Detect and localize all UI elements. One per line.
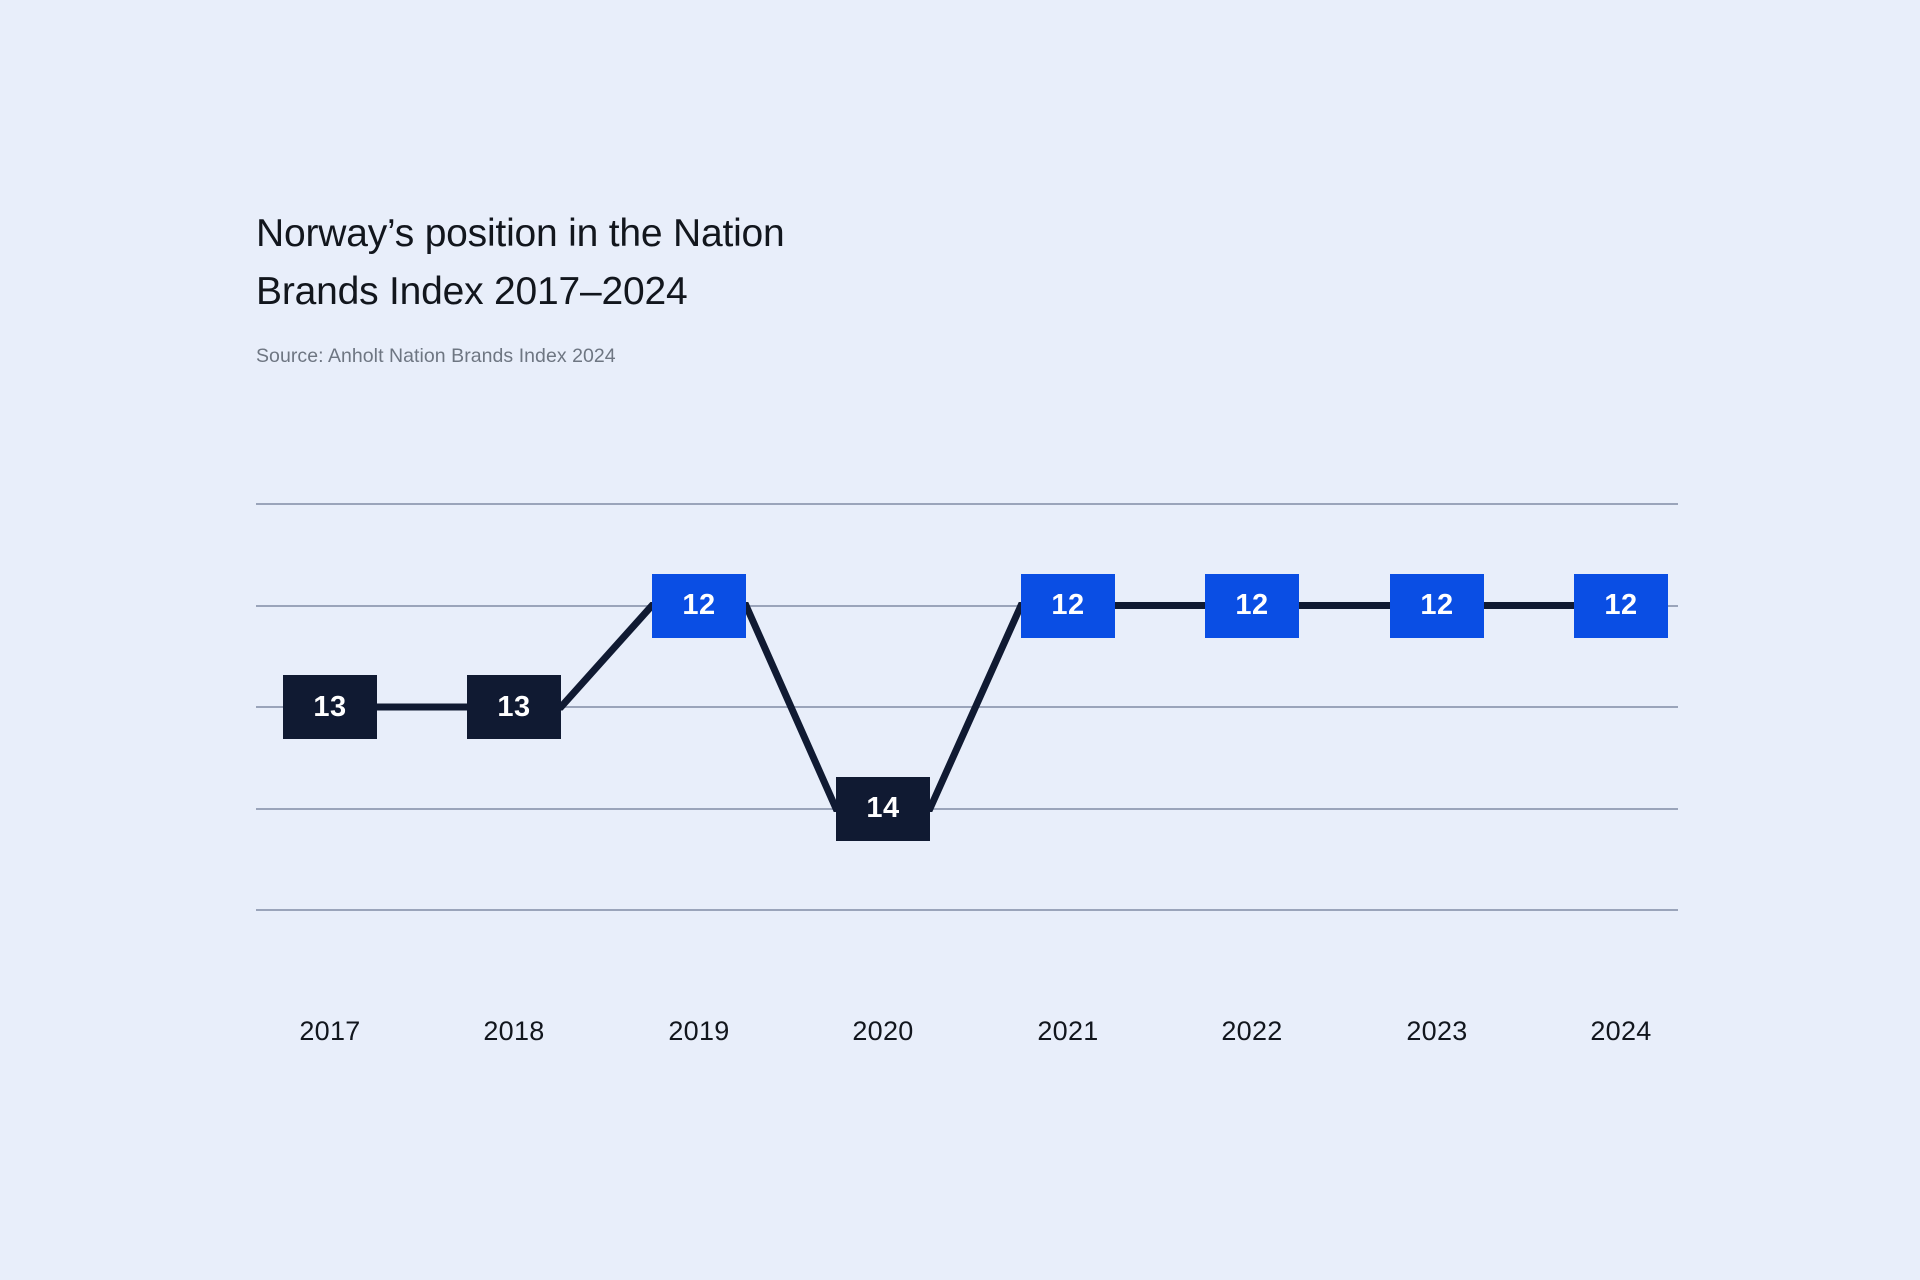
data-point-2020[interactable]: 14 — [836, 777, 930, 841]
gridline — [256, 909, 1678, 911]
data-point-2022[interactable]: 12 — [1205, 574, 1299, 638]
x-axis-label-2023: 2023 — [1347, 1016, 1527, 1047]
data-point-2024[interactable]: 12 — [1574, 574, 1668, 638]
x-axis-label-2020: 2020 — [793, 1016, 973, 1047]
data-point-2018[interactable]: 13 — [467, 675, 561, 739]
x-axis-label-2019: 2019 — [609, 1016, 789, 1047]
plot-area: 1313121412121212 20172018201920202021202… — [0, 0, 1920, 1280]
x-axis-label-2018: 2018 — [424, 1016, 604, 1047]
data-point-2023[interactable]: 12 — [1390, 574, 1484, 638]
x-axis-label-2022: 2022 — [1162, 1016, 1342, 1047]
data-point-2017[interactable]: 13 — [283, 675, 377, 739]
x-axis-label-2017: 2017 — [240, 1016, 420, 1047]
x-axis-label-2024: 2024 — [1531, 1016, 1711, 1047]
data-point-2021[interactable]: 12 — [1021, 574, 1115, 638]
data-point-2019[interactable]: 12 — [652, 574, 746, 638]
series-line — [0, 0, 1920, 1280]
gridline — [256, 808, 1678, 810]
gridline — [256, 503, 1678, 505]
x-axis-label-2021: 2021 — [978, 1016, 1158, 1047]
chart-figure: Norway’s position in the Nation Brands I… — [0, 0, 1920, 1280]
